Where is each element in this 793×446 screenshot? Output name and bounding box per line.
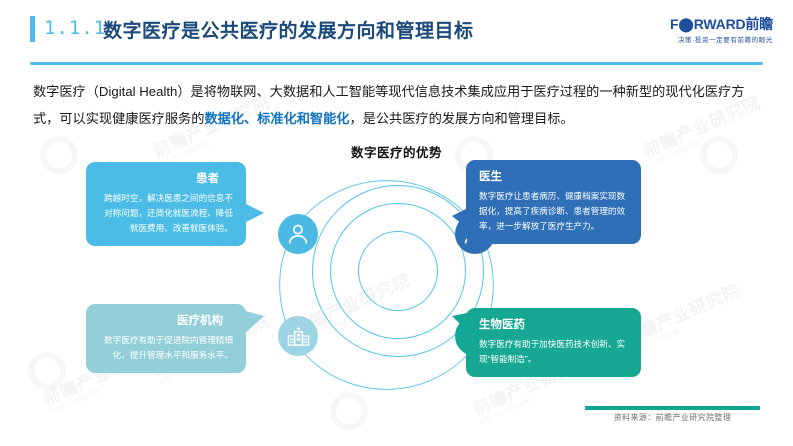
callout-hospital-text: 数字医疗有助于促进院内管理精细化，提升管理水平和服务水平。	[99, 333, 233, 363]
inner-ring	[358, 231, 438, 311]
diagram-title: 数字医疗的优势	[0, 142, 793, 161]
callout-doctor-title: 医生	[479, 169, 628, 185]
footer-accent-bar	[585, 406, 760, 410]
callout-patient-text: 跨越时空，解决医患之间的信息不对称问题，还简化就医流程、降低就医费用、改善就医体…	[99, 191, 233, 236]
brand-logo: F⬤RWARD前瞻 决策·投资一定要有前瞻的眼光	[670, 17, 773, 44]
page-title: 数字医疗是公共医疗的发展方向和管理目标	[103, 16, 474, 43]
hospital-building-icon	[286, 324, 311, 349]
callout-hospital-title: 医疗机构	[99, 313, 233, 329]
callout-pharma-tail	[452, 312, 472, 336]
section-number: 1.1.1	[44, 17, 106, 39]
advantages-diagram: 数字医疗的优势	[0, 132, 793, 417]
person-icon	[286, 222, 310, 246]
callout-patient-title: 患者	[99, 171, 233, 187]
header-divider	[30, 62, 763, 65]
callout-doctor[interactable]: 医生 数字医疗让患者病历、健康档案实现数据化，提高了疾病诊断、患者管理的效率，进…	[466, 160, 641, 244]
callout-pharma-title: 生物医药	[479, 317, 628, 333]
callout-patient[interactable]: 患者 跨越时空，解决医患之间的信息不对称问题，还简化就医流程、降低就医费用、改善…	[86, 162, 246, 246]
title-accent-bar	[30, 16, 35, 42]
paragraph-highlight: 数据化、标准化和智能化	[204, 111, 349, 126]
slide-canvas: 前瞻产业研究院中国产业咨询领跑者 前瞻产业研究院中国产业咨询领跑者 前瞻产业研究…	[0, 0, 793, 446]
logo-tagline: 决策·投资一定要有前瞻的眼光	[670, 34, 773, 44]
callout-doctor-tail	[452, 206, 472, 232]
callout-doctor-text: 数字医疗让患者病历、健康档案实现数据化，提高了疾病诊断、患者管理的效率，进一步解…	[479, 189, 628, 234]
callout-hospital-tail	[242, 310, 264, 336]
logo-wordmark: F⬤RWARD前瞻	[670, 17, 773, 32]
node-patient[interactable]	[278, 214, 318, 254]
slide-header: 1.1.1 数字医疗是公共医疗的发展方向和管理目标 F⬤RWARD前瞻 决策·投…	[0, 0, 793, 62]
callout-pharma[interactable]: 生物医药 数字医疗有助于加快医药技术创新、实现“智能制造”。	[466, 308, 641, 377]
source-note: 资料来源：前瞻产业研究院整理	[585, 412, 760, 423]
body-paragraph: 数字医疗（Digital Health）是将物联网、大数据和人工智能等现代信息技…	[33, 78, 760, 132]
node-hospital[interactable]	[278, 316, 318, 356]
paragraph-part-2: ，是公共医疗的发展方向和管理目标。	[350, 111, 574, 126]
callout-patient-tail	[242, 202, 264, 224]
callout-hospital[interactable]: 医疗机构 数字医疗有助于促进院内管理精细化，提升管理水平和服务水平。	[86, 304, 246, 373]
callout-pharma-text: 数字医疗有助于加快医药技术创新、实现“智能制造”。	[479, 337, 628, 367]
